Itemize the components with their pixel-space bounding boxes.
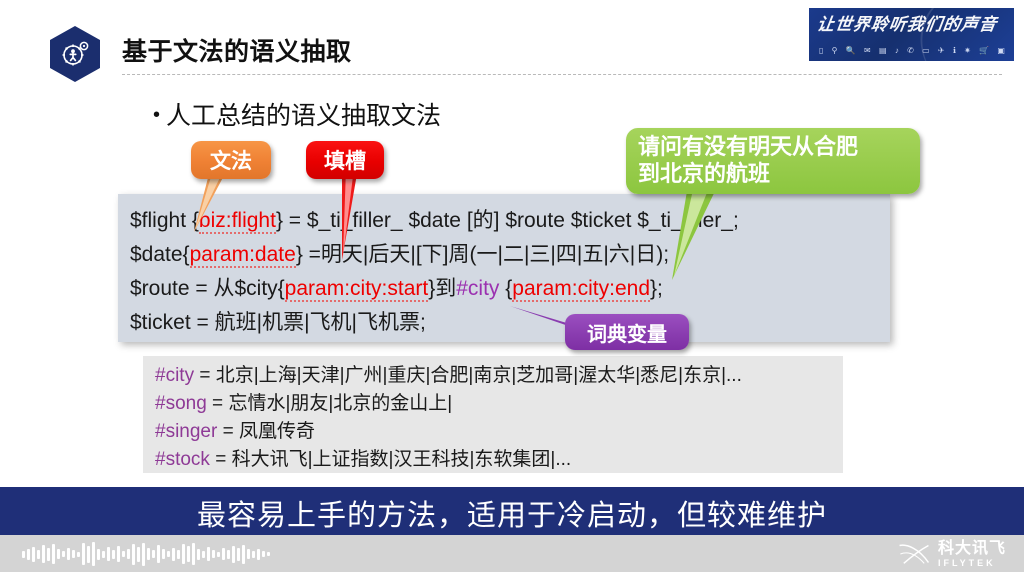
bottom-band: 最容易上手的方法，适用于冷启动，但较难维护 [0, 487, 1024, 535]
search-icon: 🔍 [846, 47, 856, 55]
call-icon: ✆ [907, 47, 914, 55]
dictionary-row: #song = 忘情水|朋友|北京的金山上| [155, 394, 452, 413]
plane-icon: ✈ [938, 47, 945, 55]
dictionary-block: #city = 北京|上海|天津|广州|重庆|合肥|南京|芝加哥|渥太华|悉尼|… [143, 356, 843, 473]
code-seg: $route = 从$city{ [130, 277, 285, 300]
callout-label: 词典变量 [587, 318, 667, 347]
cart-icon: 🛒 [979, 47, 989, 55]
iflytek-wordmark: 科大讯飞 IFLYTEK [938, 541, 1006, 568]
title-divider [122, 74, 1002, 75]
code-seg: }到 [428, 277, 456, 300]
callout-dictionary-variable: 词典变量 [565, 314, 689, 350]
calendar-icon: ▤ [879, 47, 887, 55]
dictionary-value: 凤凰传奇 [239, 421, 315, 442]
callout-label: 填槽 [324, 145, 366, 175]
slogan-banner: 让世界聆听我们的声音 ▯ ⚲ 🔍 ✉ ▤ ♪ ✆ ▭ ✈ ℹ ✷ 🛒 ▣ [809, 8, 1014, 61]
phone-icon: ▯ [819, 47, 823, 55]
callout-example-query: 请问有没有明天从合肥 到北京的航班 [626, 128, 920, 194]
callout-slot-filling: 填槽 [306, 141, 384, 179]
bullet-line: •人工总结的语义抽取文法 [153, 96, 441, 132]
dictionary-key: #song [155, 393, 207, 414]
hexagon-shape [50, 26, 100, 82]
page-title: 基于文法的语义抽取 [122, 32, 352, 68]
dictionary-sep: = [210, 449, 232, 470]
sun-icon: ✷ [964, 47, 971, 55]
dictionary-value: 忘情水|朋友|北京的金山上| [228, 393, 452, 414]
iflytek-x-mark-icon [897, 542, 931, 566]
bullet-text: 人工总结的语义抽取文法 [166, 102, 441, 130]
dictionary-row: #city = 北京|上海|天津|广州|重庆|合肥|南京|芝加哥|渥太华|悉尼|… [155, 366, 742, 385]
slide-root: 基于文法的语义抽取 让世界聆听我们的声音 ▯ ⚲ 🔍 ✉ ▤ ♪ ✆ ▭ ✈ ℹ… [0, 0, 1024, 572]
dictionary-key: #singer [155, 421, 217, 442]
dictionary-sep: = [207, 393, 229, 414]
hexagon-logo [50, 26, 100, 82]
info-icon: ℹ [953, 47, 956, 55]
person-icon: ⚲ [832, 47, 838, 55]
callout-label: 请问有没有明天从合肥 到北京的航班 [638, 134, 858, 188]
audio-waveform-icon [22, 541, 270, 567]
callout-label: 文法 [210, 145, 252, 175]
banner-icon-row: ▯ ⚲ 🔍 ✉ ▤ ♪ ✆ ▭ ✈ ℹ ✷ 🛒 ▣ [819, 47, 1005, 55]
book-icon: ▣ [997, 47, 1005, 55]
footer-bar: 科大讯飞 IFLYTEK [0, 535, 1024, 572]
bullet-marker: • [153, 104, 160, 126]
dictionary-key: #stock [155, 449, 210, 470]
mail-icon: ✉ [864, 47, 871, 55]
dictionary-key: #city [155, 365, 194, 386]
dictionary-row: #singer = 凤凰传奇 [155, 422, 315, 441]
callout-grammar: 文法 [191, 141, 271, 179]
dictionary-sep: = [217, 421, 239, 442]
gear-person-icon [60, 39, 90, 69]
code-line-4: $ticket = 航班|机票|飞机|飞机票; [130, 312, 426, 333]
dictionary-row: #stock = 科大讯飞|上证指数|汉王科技|东软集团|... [155, 450, 571, 469]
chat-icon: ▭ [922, 47, 930, 55]
query-callout-tail [610, 180, 790, 290]
bottom-band-text: 最容易上手的方法，适用于冷启动，但较难维护 [0, 492, 1024, 534]
code-seg-highlight: param:city:start [285, 277, 429, 302]
code-seg: $ticket = 航班|机票|飞机|飞机票; [130, 311, 426, 334]
dictionary-sep: = [194, 365, 216, 386]
brand-name-en: IFLYTEK [938, 559, 1006, 568]
dictionary-value: 科大讯飞|上证指数|汉王科技|东软集团|... [232, 449, 572, 470]
music-icon: ♪ [895, 47, 899, 55]
banner-calligraphy: 让世界聆听我们的声音 [815, 10, 1009, 40]
iflytek-logo: 科大讯飞 IFLYTEK [897, 541, 1006, 567]
brand-name-cn: 科大讯飞 [938, 541, 1006, 557]
